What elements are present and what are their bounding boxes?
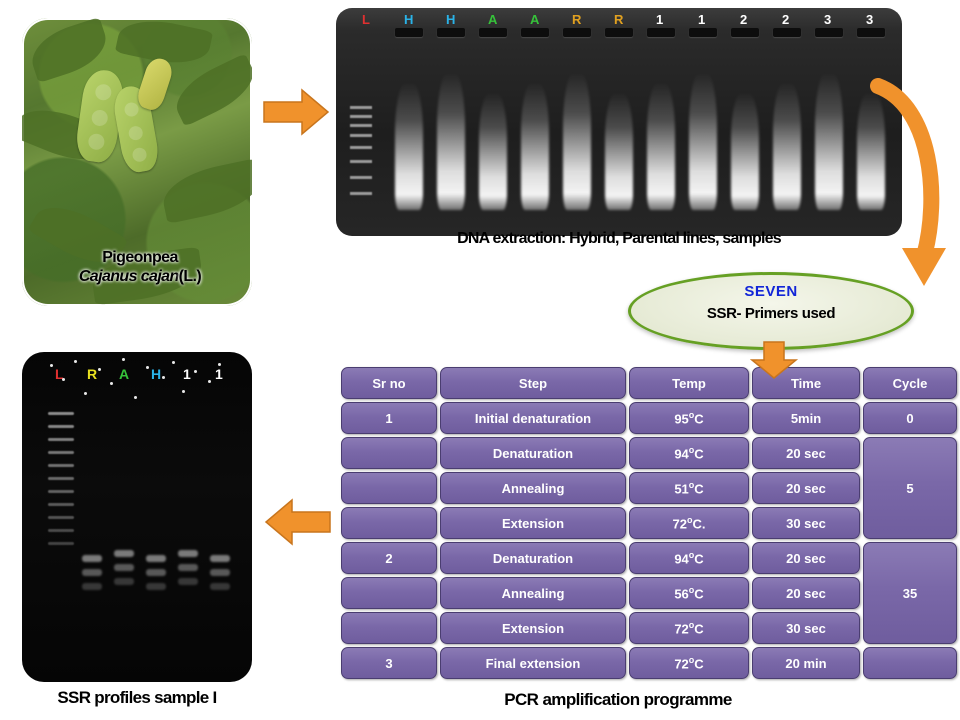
ssr-ladder-band xyxy=(48,464,74,467)
ssr-band xyxy=(146,583,165,590)
ssr-profile-caption: SSR profiles sample I xyxy=(12,688,262,708)
cell-sr-no: 3 xyxy=(341,647,437,679)
cell-time: 30 sec xyxy=(752,612,860,644)
gel-speck xyxy=(122,358,125,361)
cell-time: 30 sec xyxy=(752,507,860,539)
ssr-band xyxy=(178,578,197,585)
ssr-ladder-band xyxy=(48,529,74,532)
cell-cycle xyxy=(863,647,957,679)
ssr-ladder-band xyxy=(48,490,74,493)
ssr-ladder-band xyxy=(48,516,74,519)
gel-well xyxy=(395,28,424,37)
gel-speck xyxy=(74,360,77,363)
ssr-ladder-band xyxy=(48,477,74,480)
table-row: Denaturation94oC20 sec5 xyxy=(341,437,957,469)
dna-extraction-caption: DNA extraction: Hybrid, Parental lines, … xyxy=(336,230,902,248)
gel-lane-label: 2 xyxy=(740,12,747,27)
cell-temp: 95oC xyxy=(629,402,749,434)
ssr-primer-label: SSR- Primers used xyxy=(631,305,911,322)
pcr-programme-caption: PCR amplification programme xyxy=(338,690,898,710)
ssr-lane-label: 1 xyxy=(215,366,223,382)
cell-step: Final extension xyxy=(440,647,626,679)
ssr-ladder-band xyxy=(48,542,74,545)
ssr-ladder-band xyxy=(48,438,74,441)
cell-temp: 72oC xyxy=(629,612,749,644)
header-temp: Temp xyxy=(629,367,749,399)
dna-extraction-gel-image: LHHAARR112233 xyxy=(336,8,902,236)
ssr-lane-label: 1 xyxy=(183,366,191,382)
gel-well xyxy=(773,28,802,37)
gel-well xyxy=(857,28,886,37)
ssr-band xyxy=(178,564,197,571)
gel-speck xyxy=(62,378,65,381)
gel-speck xyxy=(218,363,221,366)
ssr-lane-label: A xyxy=(119,366,129,382)
gel-well xyxy=(689,28,718,37)
ssr-ladder-band xyxy=(48,503,74,506)
gel-lane-label: A xyxy=(530,12,539,27)
curved-arrow-icon xyxy=(862,78,950,306)
cell-step: Annealing xyxy=(440,577,626,609)
gel-band xyxy=(395,82,423,210)
gel-speck xyxy=(50,364,53,367)
ssr-band xyxy=(178,550,197,557)
gel-band xyxy=(773,82,801,210)
ssr-band xyxy=(114,578,133,585)
cell-cycle: 5 xyxy=(863,437,957,539)
arrow-left-icon xyxy=(262,498,334,546)
gel-lane-label: R xyxy=(572,12,581,27)
pigeonpea-scientific-name: Cajanus cajan xyxy=(79,268,179,285)
cell-time: 20 min xyxy=(752,647,860,679)
gel-speck xyxy=(172,361,175,364)
cell-step: Extension xyxy=(440,612,626,644)
ssr-ladder-band xyxy=(48,451,74,454)
ssr-band xyxy=(82,569,101,576)
table-row: 1Initial denaturation95oC5min0 xyxy=(341,402,957,434)
gel-lane-label: L xyxy=(362,12,370,27)
gel-speck xyxy=(162,376,165,379)
ssr-band xyxy=(82,583,101,590)
cell-cycle: 35 xyxy=(863,542,957,644)
header-step: Step xyxy=(440,367,626,399)
gel-band xyxy=(689,72,717,210)
gel-band xyxy=(563,72,591,210)
cell-step: Initial denaturation xyxy=(440,402,626,434)
cell-temp: 94oC xyxy=(629,437,749,469)
gel-well xyxy=(479,28,508,37)
gel-speck xyxy=(182,390,185,393)
gel-band xyxy=(437,72,465,210)
pcr-programme-table: Sr no Step Temp Time Cycle 1Initial dena… xyxy=(338,364,960,682)
table-row: 2Denaturation94oC20 sec35 xyxy=(341,542,957,574)
arrow-right-icon xyxy=(262,88,332,138)
gel-well xyxy=(437,28,466,37)
cell-temp: 72oC xyxy=(629,647,749,679)
gel-speck xyxy=(84,392,87,395)
gel-lane-label: 3 xyxy=(866,12,873,27)
cell-sr-no xyxy=(341,507,437,539)
cell-step: Denaturation xyxy=(440,542,626,574)
ssr-lane-label: R xyxy=(87,366,97,382)
cell-sr-no xyxy=(341,577,437,609)
cell-sr-no xyxy=(341,612,437,644)
ssr-band xyxy=(210,555,229,562)
ssr-band xyxy=(82,555,101,562)
cell-sr-no xyxy=(341,472,437,504)
pigeonpea-authority: (L.) xyxy=(179,268,201,285)
cell-temp: 94oC xyxy=(629,542,749,574)
gel-speck xyxy=(110,382,113,385)
gel-speck xyxy=(134,396,137,399)
gel-band xyxy=(731,92,759,210)
gel-well xyxy=(731,28,760,37)
gel-lane-label: R xyxy=(614,12,623,27)
ssr-band xyxy=(210,583,229,590)
gel-well xyxy=(563,28,592,37)
ssr-band xyxy=(114,564,133,571)
gel-band xyxy=(815,72,843,210)
gel-lane-label: H xyxy=(404,12,413,27)
gel-lane-label: 1 xyxy=(656,12,663,27)
pigeonpea-common-name: Pigeonpea xyxy=(40,248,240,267)
header-sr-no: Sr no xyxy=(341,367,437,399)
gel-well xyxy=(815,28,844,37)
gel-speck xyxy=(98,368,101,371)
cell-step: Annealing xyxy=(440,472,626,504)
gel-band xyxy=(479,92,507,210)
cell-cycle: 0 xyxy=(863,402,957,434)
ssr-band xyxy=(146,569,165,576)
ssr-ladder-band xyxy=(48,425,74,428)
cell-time: 20 sec xyxy=(752,577,860,609)
ssr-band xyxy=(146,555,165,562)
cell-sr-no: 1 xyxy=(341,402,437,434)
header-cycle: Cycle xyxy=(863,367,957,399)
gel-well xyxy=(647,28,676,37)
ssr-band xyxy=(210,569,229,576)
cell-step: Denaturation xyxy=(440,437,626,469)
gel-lane-label: 1 xyxy=(698,12,705,27)
cell-sr-no xyxy=(341,437,437,469)
gel-lane-label: 2 xyxy=(782,12,789,27)
cell-temp: 72oC. xyxy=(629,507,749,539)
cell-time: 20 sec xyxy=(752,542,860,574)
gel-band xyxy=(647,82,675,210)
ladder-bands xyxy=(350,106,372,196)
gel-band xyxy=(605,92,633,210)
gel-lane-label: A xyxy=(488,12,497,27)
table-row: 3Final extension72oC20 min xyxy=(341,647,957,679)
cell-time: 20 sec xyxy=(752,437,860,469)
cell-step: Extension xyxy=(440,507,626,539)
gel-speck xyxy=(146,366,149,369)
cell-temp: 51oC xyxy=(629,472,749,504)
ssr-profile-gel-image: LRAH11 xyxy=(22,352,252,682)
gel-band xyxy=(521,82,549,210)
ssr-ladder-band xyxy=(48,412,74,415)
gel-speck xyxy=(208,380,211,383)
cell-sr-no: 2 xyxy=(341,542,437,574)
cell-temp: 56oC xyxy=(629,577,749,609)
arrow-down-icon xyxy=(750,340,802,380)
gel-well xyxy=(521,28,550,37)
cell-time: 5min xyxy=(752,402,860,434)
gel-speck xyxy=(194,370,197,373)
gel-lane-label: 3 xyxy=(824,12,831,27)
table-header-row: Sr no Step Temp Time Cycle xyxy=(341,367,957,399)
gel-lane-label: H xyxy=(446,12,455,27)
ssr-band xyxy=(114,550,133,557)
cell-time: 20 sec xyxy=(752,472,860,504)
ssr-lane-label: H xyxy=(151,366,161,382)
gel-well xyxy=(605,28,634,37)
pigeonpea-caption: Pigeonpea Cajanus cajan(L.) xyxy=(40,248,240,286)
